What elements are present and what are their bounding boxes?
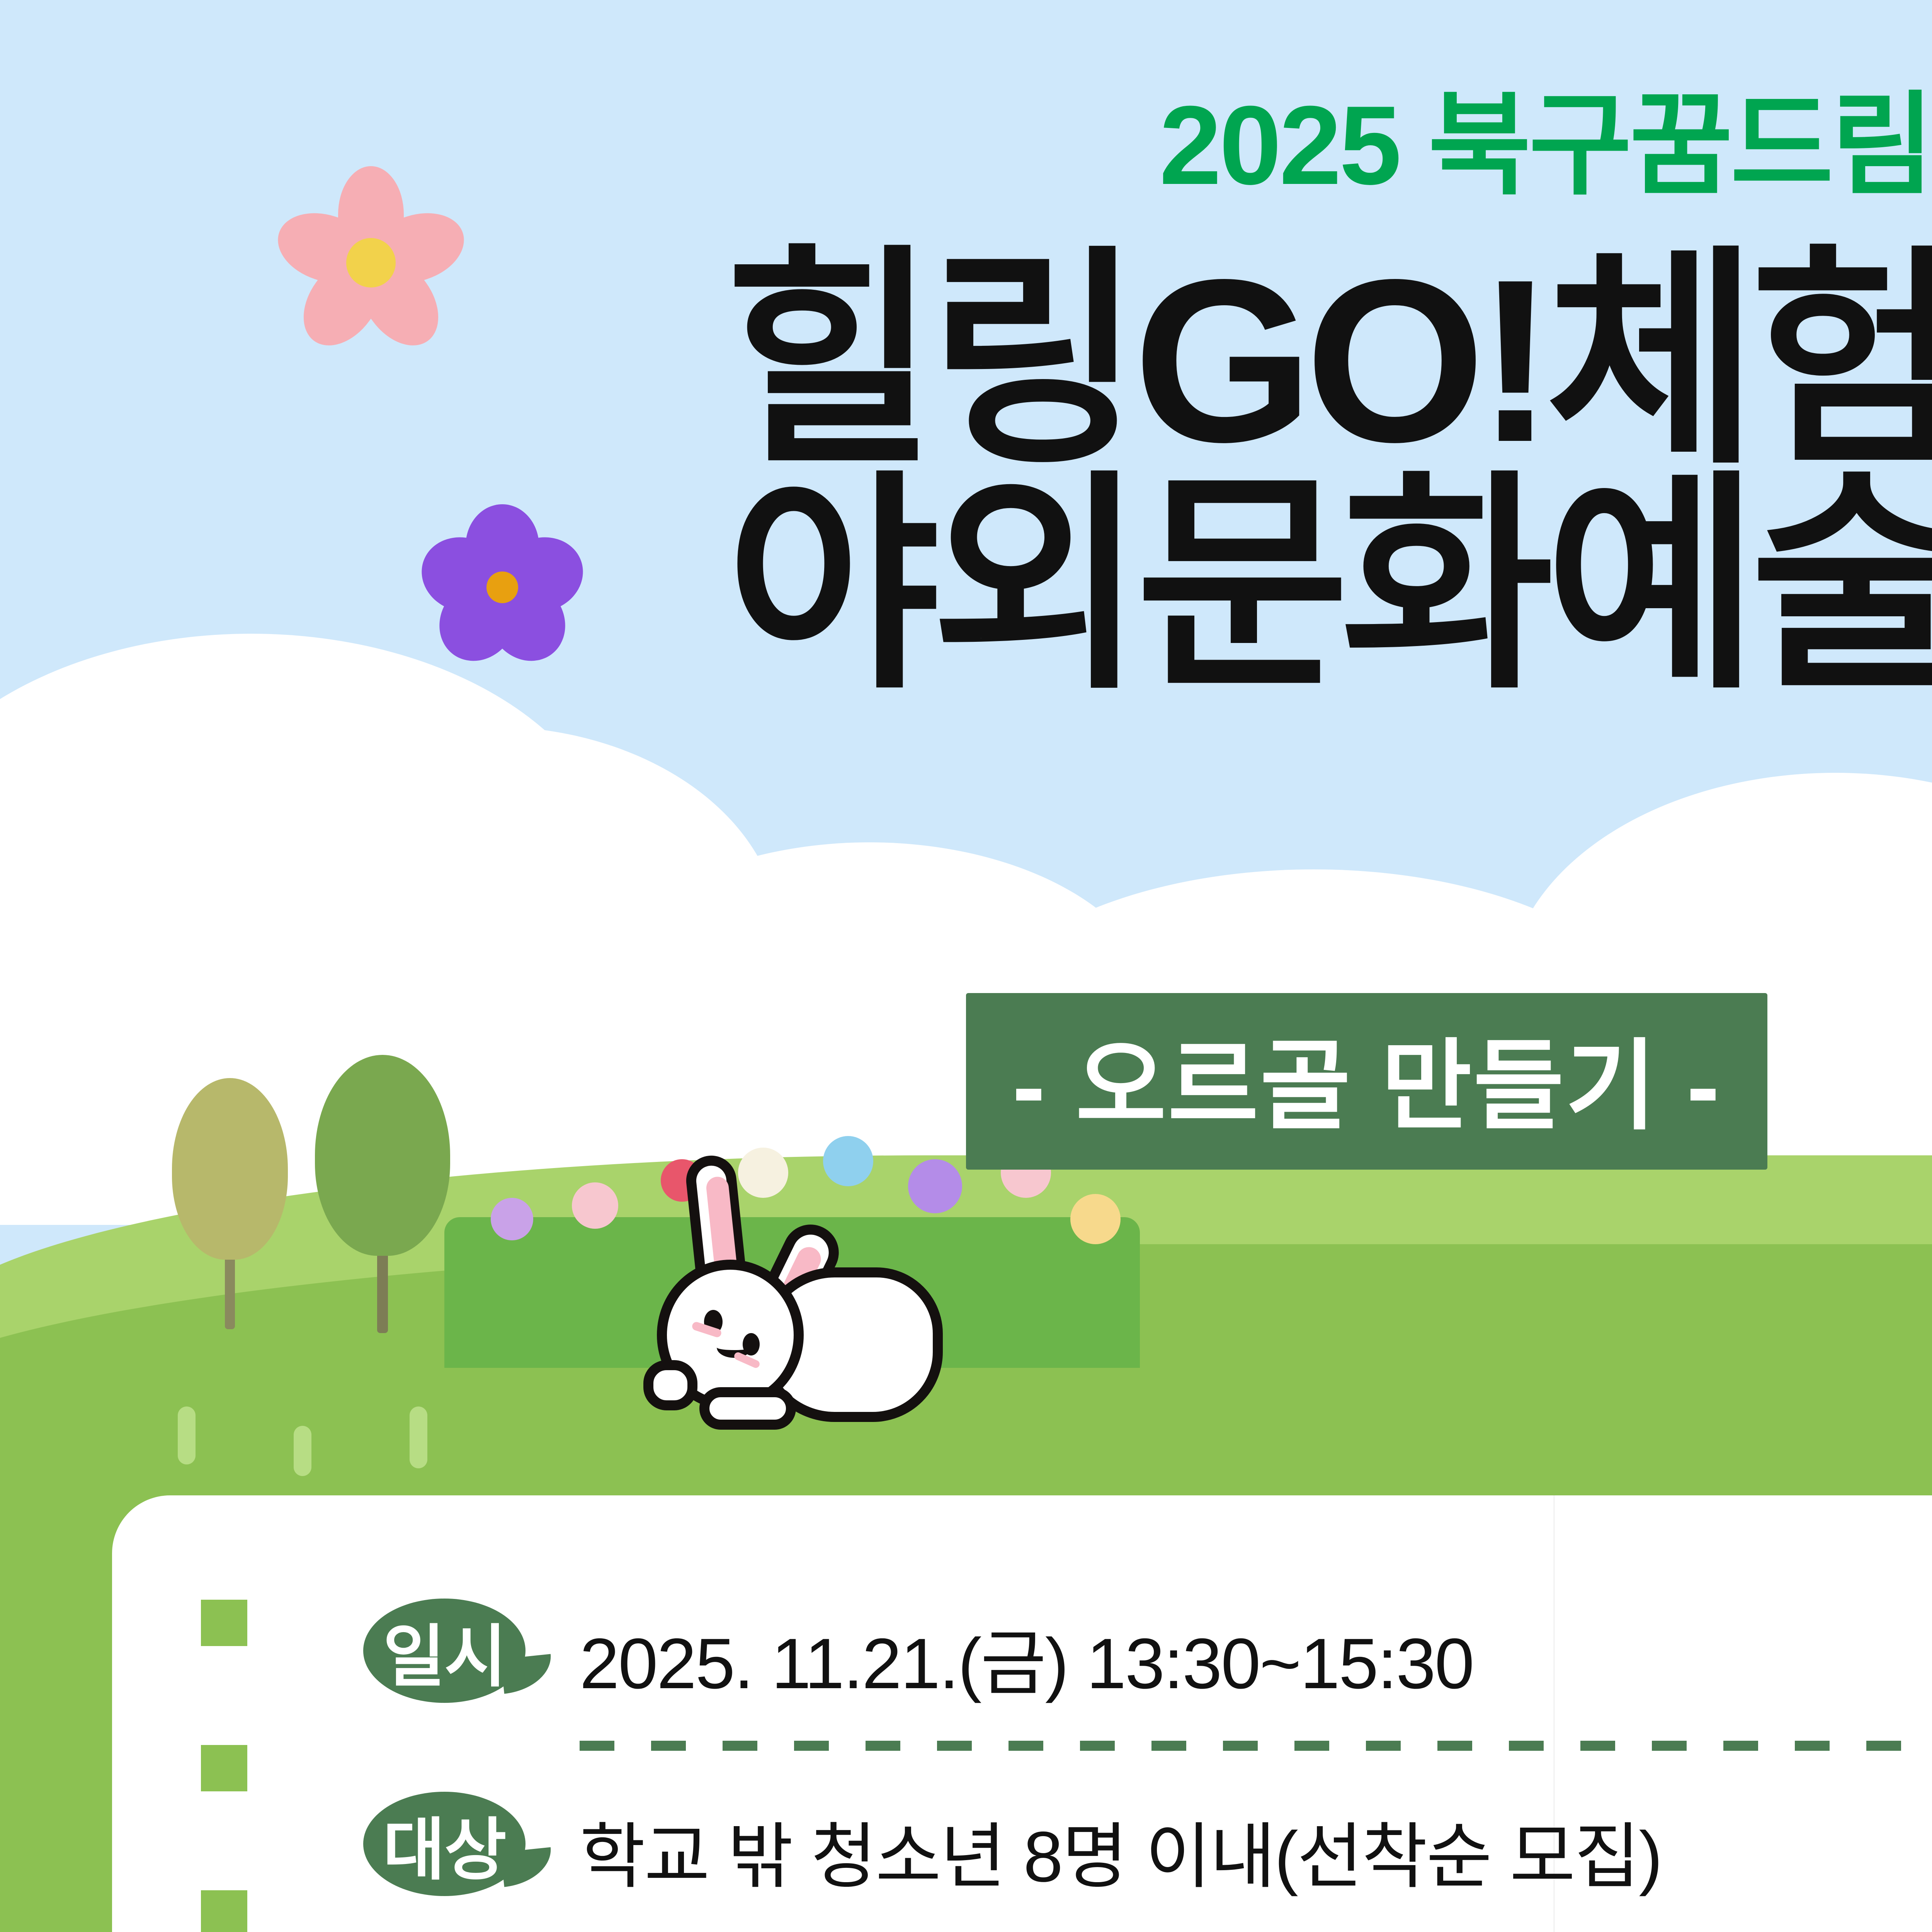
info-label-pill: 대상 xyxy=(363,1792,526,1896)
info-row: 일시 2025. 11.21.(금) 13:30~15:30 xyxy=(363,1582,1932,1776)
info-row: 대상 학교 밖 청소년 8명 이내(선착순 모집) xyxy=(363,1776,1932,1932)
tree-illustration xyxy=(309,1055,456,1333)
poster-root: 2025 북구꿈드림 “ ” 성취포상제 인증프로그램 5점 힐링GO!체험GO… xyxy=(0,0,1932,1932)
info-value: 학교 밖 청소년 8명 이내(선착순 모집) xyxy=(580,1799,1932,1902)
info-label-pill: 일시 xyxy=(363,1599,526,1703)
subtitle-banner: - 오르골 만들기 - xyxy=(966,993,1767,1170)
info-label: 일시 xyxy=(383,1602,506,1700)
title-line-2: 야외문화예술체험 xyxy=(0,472,1932,699)
info-value: 2025. 11.21.(금) 13:30~15:30 xyxy=(580,1605,1932,1709)
rabbit-illustration xyxy=(630,1155,978,1426)
row-divider xyxy=(580,1741,1932,1751)
tree-illustration xyxy=(166,1078,294,1329)
info-label: 대상 xyxy=(383,1795,506,1893)
kicker-text: 2025 북구꿈드림 xyxy=(0,54,1932,216)
info-card: 일시 2025. 11.21.(금) 13:30~15:30 대상 학교 밖 청… xyxy=(112,1495,1932,1932)
info-rows: 일시 2025. 11.21.(금) 13:30~15:30 대상 학교 밖 청… xyxy=(363,1582,1932,1932)
poster-title: 힐링GO!체험GO! 야외문화예술체험 xyxy=(0,247,1932,699)
subtitle-text: - 오르골 만들기 - xyxy=(1012,1031,1721,1141)
title-line-1: 힐링GO!체험GO! xyxy=(0,247,1932,474)
